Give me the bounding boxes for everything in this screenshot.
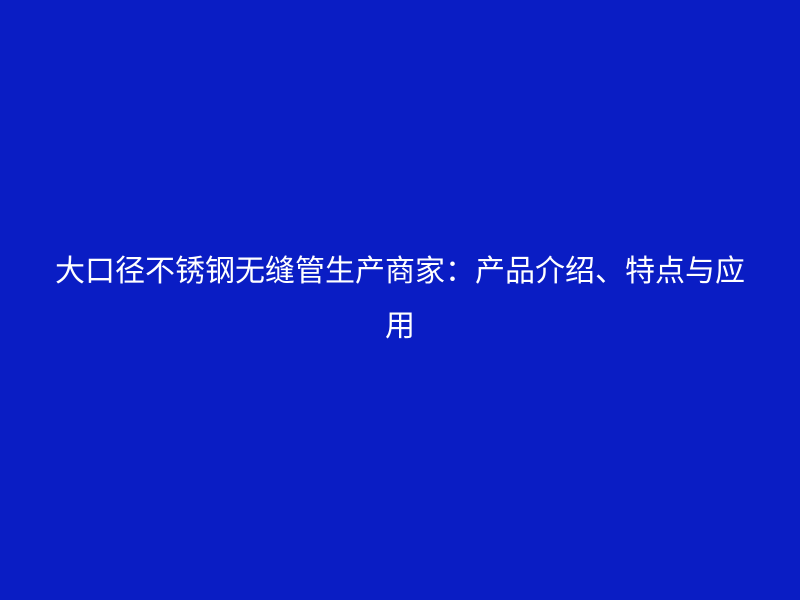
slide-canvas: 大口径不锈钢无缝管生产商家：产品介绍、特点与应用	[0, 0, 800, 600]
title-block: 大口径不锈钢无缝管生产商家：产品介绍、特点与应用	[55, 244, 745, 354]
page-title: 大口径不锈钢无缝管生产商家：产品介绍、特点与应用	[55, 244, 745, 354]
